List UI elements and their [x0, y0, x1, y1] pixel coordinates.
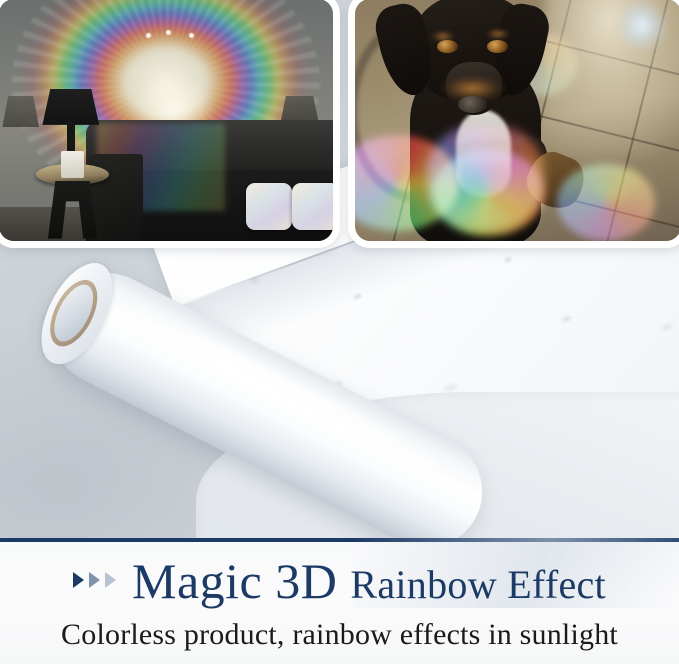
banner-subline: Colorless product, rainbow effects in su… — [0, 618, 679, 651]
tissue-box — [61, 151, 84, 178]
cushion-rainbow-sheen — [246, 183, 291, 230]
sofa-cushion — [246, 183, 291, 230]
rainbow-light-spot — [433, 149, 544, 236]
headline-rest-text: Rainbow Effect — [350, 565, 606, 605]
dog-nose — [458, 96, 487, 113]
triangle-right-icon — [73, 572, 84, 588]
rainbow-light-spot — [557, 164, 655, 241]
triangle-right-icon — [105, 572, 116, 588]
cushion-rainbow-sheen — [292, 183, 333, 230]
living-room-photo-inner — [0, 0, 333, 241]
marketing-banner: Magic 3D Rainbow Effect Colorless produc… — [0, 538, 679, 664]
triangle-right-icon — [89, 572, 100, 588]
left-lamp-shade — [2, 96, 39, 127]
dog-photo-inner — [355, 0, 679, 241]
sofa-cushion — [292, 183, 333, 230]
living-room-rainbow-photo — [0, 0, 340, 248]
headline-strong-text: Magic 3D — [132, 556, 337, 606]
window-light-highlight — [616, 0, 668, 52]
chevron-arrows-group — [73, 572, 116, 588]
ceiling-light-sparkle — [146, 33, 151, 38]
photo-gallery — [0, 0, 679, 252]
product-infographic: Magic 3D Rainbow Effect Colorless produc… — [0, 0, 679, 664]
banner-headline: Magic 3D Rainbow Effect — [0, 556, 679, 606]
dog-rainbow-photo — [348, 0, 679, 248]
